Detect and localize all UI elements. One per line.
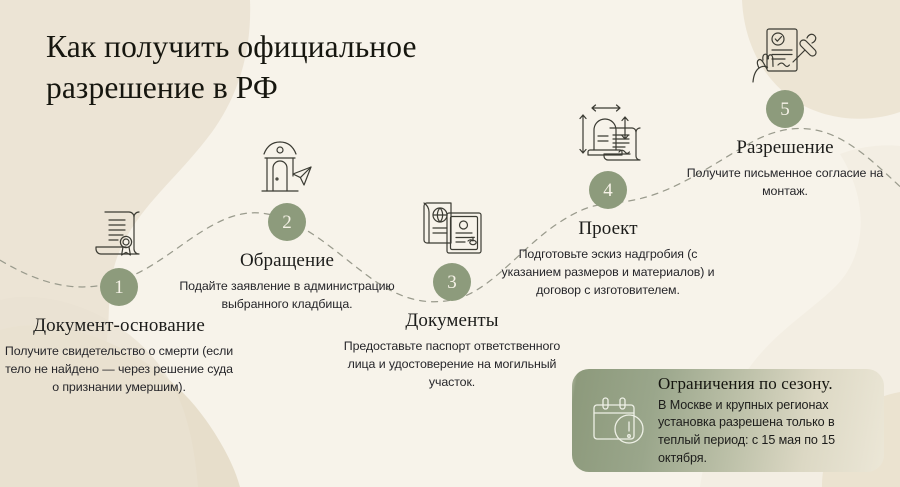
callout-body: Ограничения по сезону. В Москве и крупны… bbox=[652, 374, 870, 468]
building-entrance-paper-plane-icon bbox=[255, 141, 319, 197]
page-title: Как получить официальное разрешение в РФ bbox=[46, 27, 516, 109]
callout-text: В Москве и крупных регионах установка ра… bbox=[658, 397, 870, 468]
calendar-warning-icon bbox=[593, 395, 647, 447]
seasonal-restriction-callout: Ограничения по сезону. В Москве и крупны… bbox=[572, 369, 884, 472]
step-4-description: Подготовьте эскиз надгробия (с указанием… bbox=[493, 246, 723, 299]
step-1-title: Документ-основание bbox=[4, 315, 234, 336]
step-4-number: 4 bbox=[589, 171, 627, 209]
step-5-description: Получите письменное согласие на монтаж. bbox=[670, 165, 900, 200]
step-4-title: Проект bbox=[493, 218, 723, 239]
step-3-description: Предоставьте паспорт ответственного лица… bbox=[337, 338, 567, 391]
callout-title: Ограничения по сезону. bbox=[658, 374, 870, 394]
step-5: 5 Разрешение Получите письменное согласи… bbox=[670, 22, 900, 201]
gravestone-blueprint-scroll-icon bbox=[570, 103, 646, 165]
step-5-title: Разрешение bbox=[670, 137, 900, 158]
infographic-canvas: Как получить официальное разрешение в РФ… bbox=[0, 0, 900, 487]
passport-id-document-icon bbox=[416, 199, 488, 257]
step-3-title: Документы bbox=[337, 310, 567, 331]
step-5-icon-wrap bbox=[670, 22, 900, 84]
step-2-number: 2 bbox=[268, 203, 306, 241]
callout-icon-wrap bbox=[588, 395, 652, 447]
hand-holding-approved-document-stamp-icon bbox=[749, 24, 821, 84]
certificate-scroll-seal-icon bbox=[93, 206, 145, 262]
step-1-number: 1 bbox=[100, 268, 138, 306]
step-5-number: 5 bbox=[766, 90, 804, 128]
step-2-icon-wrap bbox=[172, 135, 402, 197]
step-3-number: 3 bbox=[433, 263, 471, 301]
step-1-description: Получите свидетельство о смерти (если те… bbox=[4, 343, 234, 396]
